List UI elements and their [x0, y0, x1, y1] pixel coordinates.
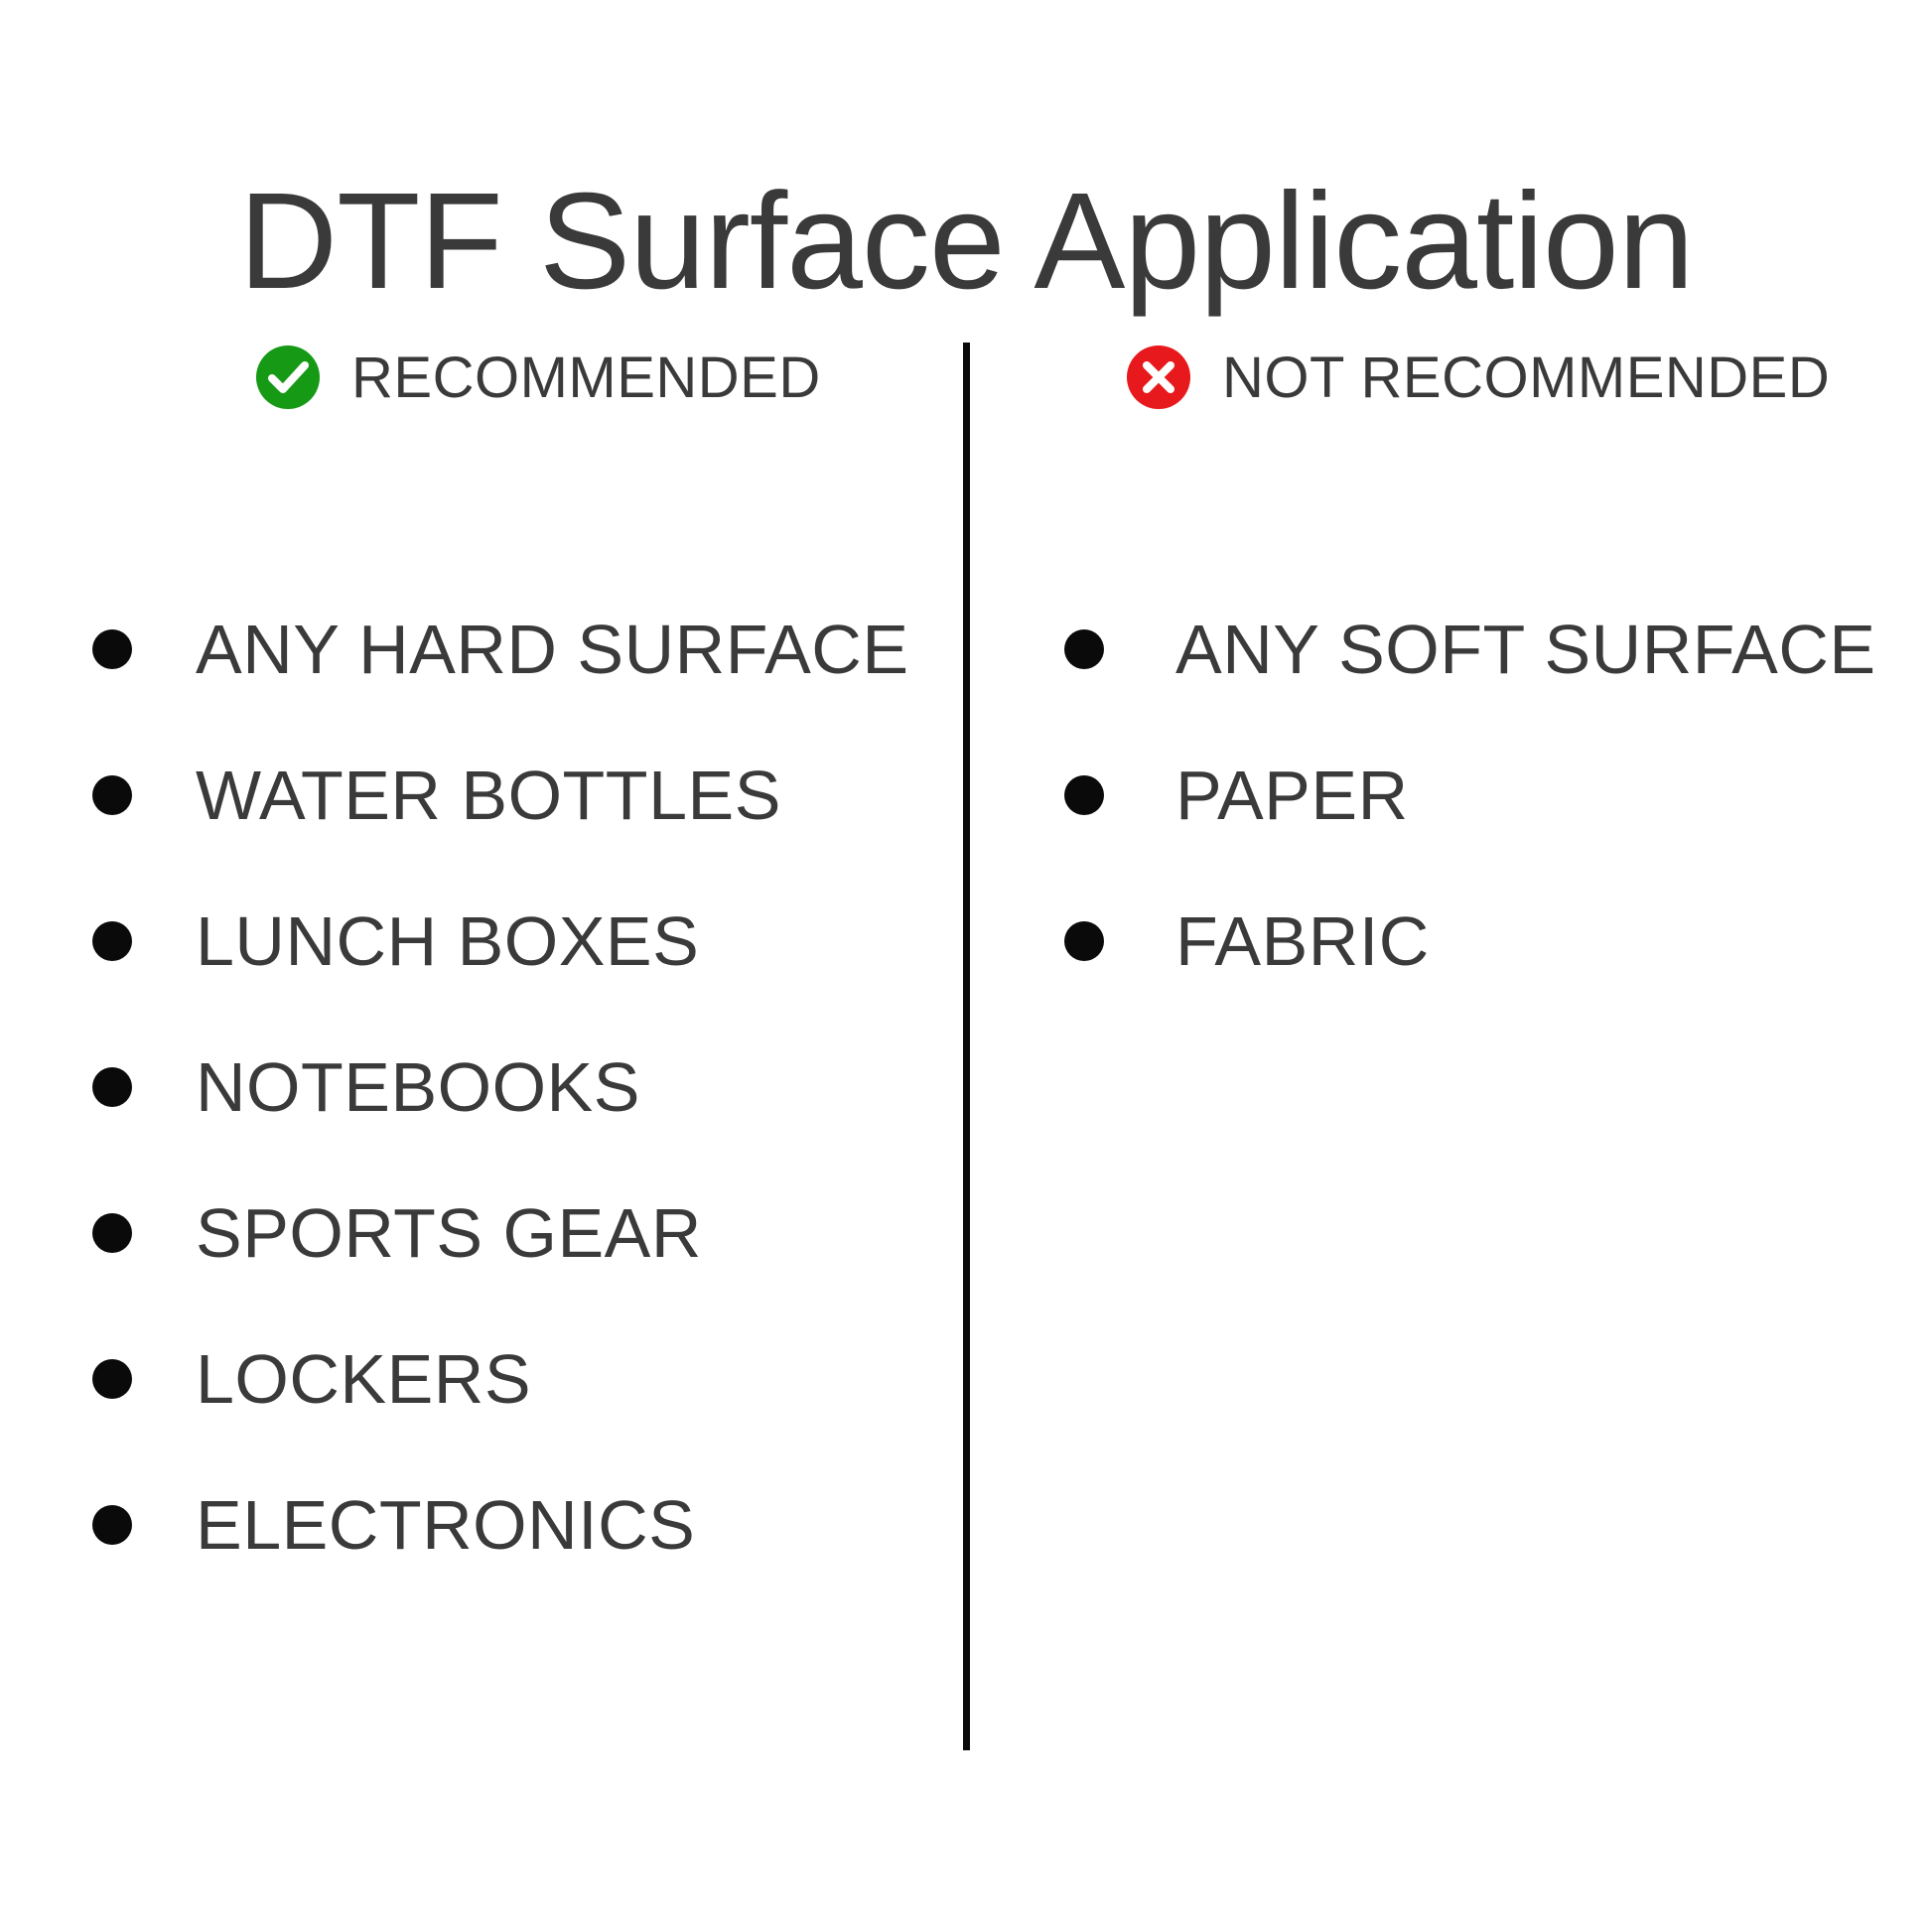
bullet-icon: [92, 921, 132, 961]
page-title: DTF Surface Application: [0, 163, 1932, 321]
list-item-label: WATER BOTTLES: [196, 760, 781, 830]
bullet-icon: [92, 1213, 132, 1253]
not-recommended-column: NOT RECOMMENDED ANY SOFT SURFACE PAPER F…: [993, 328, 1886, 865]
bullet-icon: [92, 1359, 132, 1399]
recommended-header-label: RECOMMENDED: [351, 345, 821, 411]
list-item: PAPER: [993, 722, 1886, 868]
list-item-label: FABRIC: [1175, 906, 1430, 976]
recommended-column: RECOMMENDED ANY HARD SURFACE WATER BOTTL…: [77, 328, 951, 1449]
bullet-icon: [1064, 921, 1104, 961]
list-item: LOCKERS: [77, 1306, 951, 1451]
column-divider: [963, 343, 970, 1750]
bullet-icon: [92, 1067, 132, 1107]
recommended-header: RECOMMENDED: [77, 328, 951, 427]
recommended-list: ANY HARD SURFACE WATER BOTTLES LUNCH BOX…: [77, 576, 951, 1597]
list-item-label: NOTEBOOKS: [196, 1052, 640, 1122]
bullet-icon: [92, 1505, 132, 1545]
list-item-label: LOCKERS: [196, 1344, 531, 1414]
list-item: ANY SOFT SURFACE: [993, 576, 1886, 722]
not-recommended-header-label: NOT RECOMMENDED: [1222, 345, 1830, 411]
not-recommended-header: NOT RECOMMENDED: [993, 328, 1886, 427]
list-item: LUNCH BOXES: [77, 868, 951, 1014]
list-item: ELECTRONICS: [77, 1451, 951, 1597]
bullet-icon: [1064, 775, 1104, 815]
infographic-page: DTF Surface Application RECOMMENDED ANY …: [0, 0, 1932, 1932]
bullet-icon: [92, 629, 132, 669]
list-item-label: ELECTRONICS: [196, 1490, 695, 1560]
list-item-label: SPORTS GEAR: [196, 1198, 702, 1268]
list-item: FABRIC: [993, 868, 1886, 1014]
list-item-label: ANY SOFT SURFACE: [1175, 615, 1876, 684]
list-item-label: LUNCH BOXES: [196, 906, 699, 976]
list-item: SPORTS GEAR: [77, 1160, 951, 1306]
bullet-icon: [1064, 629, 1104, 669]
list-item: NOTEBOOKS: [77, 1014, 951, 1160]
x-circle-icon: [1127, 345, 1190, 409]
check-circle-icon: [256, 345, 320, 409]
not-recommended-list: ANY SOFT SURFACE PAPER FABRIC: [993, 576, 1886, 1014]
list-item: ANY HARD SURFACE: [77, 576, 951, 722]
list-item: WATER BOTTLES: [77, 722, 951, 868]
list-item-label: ANY HARD SURFACE: [196, 615, 909, 684]
bullet-icon: [92, 775, 132, 815]
list-item-label: PAPER: [1175, 760, 1409, 830]
